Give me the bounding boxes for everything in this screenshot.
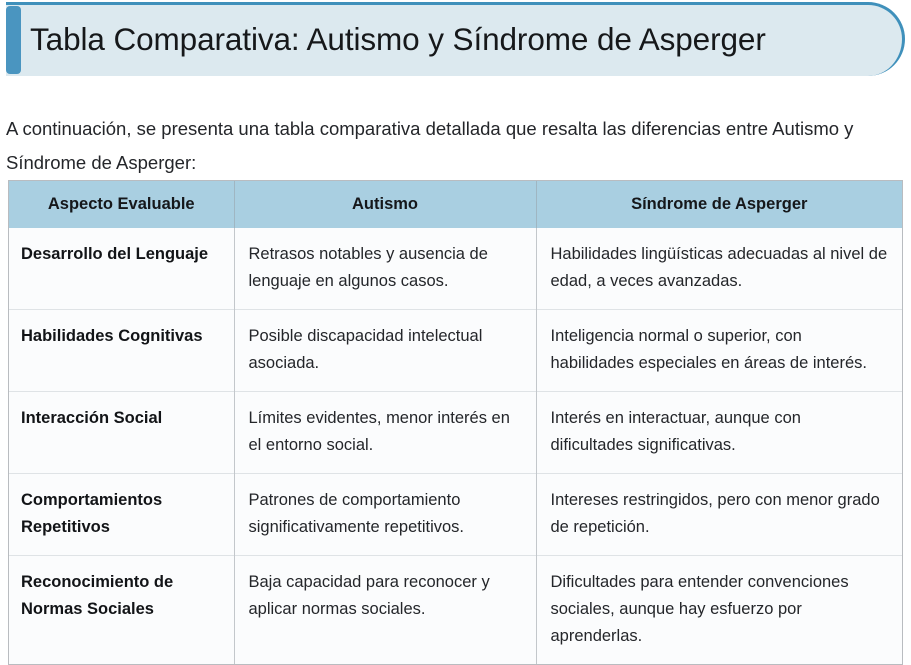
cell-asperger: Habilidades lingüísticas adecuadas al ni… xyxy=(536,228,902,310)
banner-accent-bar xyxy=(6,6,21,74)
comparison-table: Aspecto Evaluable Autismo Síndrome de As… xyxy=(9,181,902,664)
cell-autismo: Posible discapacidad intelectual asociad… xyxy=(234,310,536,392)
table-header: Aspecto Evaluable Autismo Síndrome de As… xyxy=(9,181,902,228)
column-header-autismo: Autismo xyxy=(234,181,536,228)
column-header-aspect: Aspecto Evaluable xyxy=(9,181,234,228)
cell-autismo: Límites evidentes, menor interés en el e… xyxy=(234,392,536,474)
page-title: Tabla Comparativa: Autismo y Síndrome de… xyxy=(30,2,766,76)
cell-asperger: Dificultades para entender convenciones … xyxy=(536,556,902,665)
cell-asperger: Intereses restringidos, pero con menor g… xyxy=(536,474,902,556)
cell-aspect: Habilidades Cognitivas xyxy=(9,310,234,392)
table-row: Interacción Social Límites evidentes, me… xyxy=(9,392,902,474)
cell-aspect: Interacción Social xyxy=(9,392,234,474)
intro-paragraph: A continuación, se presenta una tabla co… xyxy=(6,112,886,180)
cell-asperger: Inteligencia normal o superior, con habi… xyxy=(536,310,902,392)
page-title-banner: Tabla Comparativa: Autismo y Síndrome de… xyxy=(6,2,905,76)
table-row: Desarrollo del Lenguaje Retrasos notable… xyxy=(9,228,902,310)
table-header-row: Aspecto Evaluable Autismo Síndrome de As… xyxy=(9,181,902,228)
table-row: Habilidades Cognitivas Posible discapaci… xyxy=(9,310,902,392)
cell-asperger: Interés en interactuar, aunque con dific… xyxy=(536,392,902,474)
cell-autismo: Patrones de comportamiento significativa… xyxy=(234,474,536,556)
cell-aspect: Comportamientos Repetitivos xyxy=(9,474,234,556)
cell-aspect: Reconocimiento de Normas Sociales xyxy=(9,556,234,665)
cell-aspect: Desarrollo del Lenguaje xyxy=(9,228,234,310)
cell-autismo: Retrasos notables y ausencia de lenguaje… xyxy=(234,228,536,310)
table-body: Desarrollo del Lenguaje Retrasos notable… xyxy=(9,228,902,664)
comparison-table-container: Aspecto Evaluable Autismo Síndrome de As… xyxy=(8,180,903,665)
cell-autismo: Baja capacidad para reconocer y aplicar … xyxy=(234,556,536,665)
column-header-asperger: Síndrome de Asperger xyxy=(536,181,902,228)
table-row: Reconocimiento de Normas Sociales Baja c… xyxy=(9,556,902,665)
table-row: Comportamientos Repetitivos Patrones de … xyxy=(9,474,902,556)
